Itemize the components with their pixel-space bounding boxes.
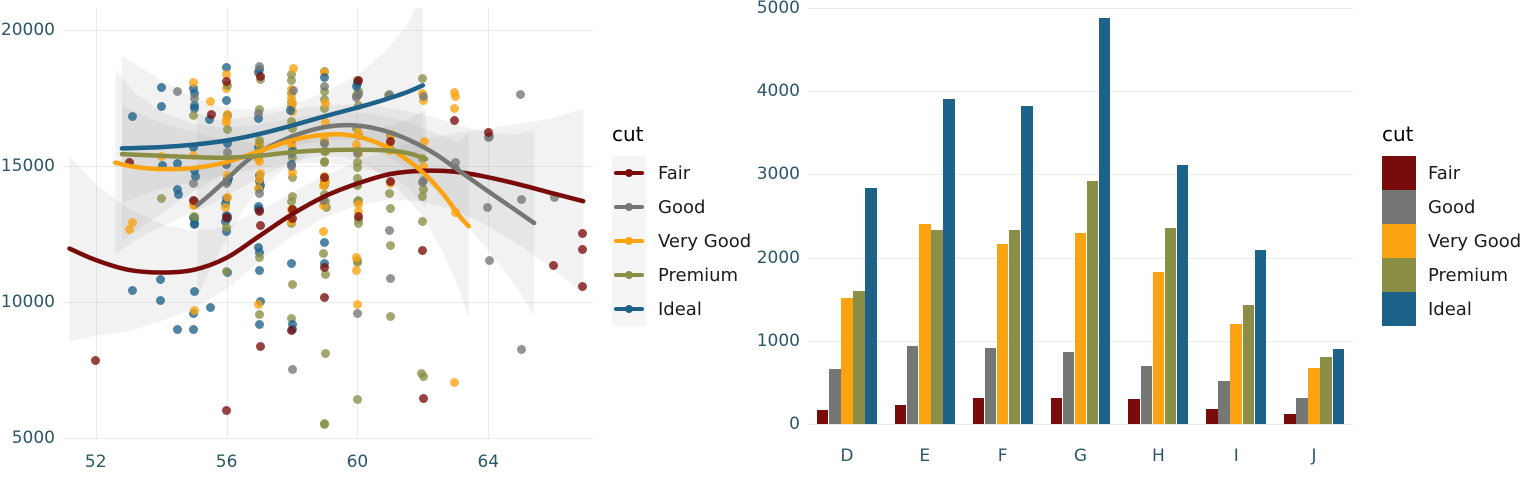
bar-G-good[interactable] [1063,352,1075,424]
bar-F-premium[interactable] [1009,230,1021,424]
smooth-line-fair [70,171,584,273]
bar-F-very-good[interactable] [997,244,1009,424]
x-axis-tick-label: 60 [327,452,387,472]
legend-key-swatch-icon [1382,156,1416,190]
y-axis-tick-label: 5000 [740,0,800,18]
figure-root: 5000100001500020000 52566064 cut FairGoo… [0,0,1536,480]
legend-right-title: cut [1382,122,1521,146]
legend-item-label: Good [1428,197,1475,218]
legend-key-line-icon [612,190,646,224]
legend-item-label: Fair [1428,163,1460,184]
legend-item-label: Ideal [658,299,702,320]
bar-E-ideal[interactable] [943,99,955,424]
legend-key-swatch-icon [1382,258,1416,292]
bar-H-premium[interactable] [1165,228,1177,424]
y-axis-tick-label: 2000 [740,248,800,268]
bar-D-good[interactable] [829,369,841,424]
legend-key-line-icon [612,292,646,326]
y-axis-tick-label: 1000 [740,331,800,351]
legend-right-items: FairGoodVery GoodPremiumIdeal [1382,156,1521,326]
smooth-curves [63,8,593,438]
x-axis-tick-label: I [1206,446,1266,466]
bar-I-very-good[interactable] [1230,324,1242,424]
legend-key-swatch-icon [1382,224,1416,258]
legend-item-premium[interactable]: Premium [1382,258,1521,292]
bar-I-premium[interactable] [1243,305,1255,424]
bar-D-premium[interactable] [853,291,865,424]
y-axis-tick-label: 5000 [0,428,55,448]
gridline-horizontal [808,424,1353,425]
legend-right: cut FairGoodVery GoodPremiumIdeal [1382,122,1521,326]
x-axis-tick-label: H [1128,446,1188,466]
bar-E-good[interactable] [907,346,919,424]
bar-F-fair[interactable] [973,398,985,424]
bar-G-premium[interactable] [1087,181,1099,424]
legend-item-label: Premium [1428,265,1508,286]
x-axis-tick-label: J [1284,446,1344,466]
x-axis-tick-label: 64 [458,452,518,472]
x-axis-tick-label: G [1051,446,1111,466]
bar-E-very-good[interactable] [919,224,931,424]
legend-item-fair[interactable]: Fair [612,156,751,190]
legend-item-ideal[interactable]: Ideal [1382,292,1521,326]
gridline-horizontal [808,91,1353,92]
bar-D-ideal[interactable] [865,188,877,424]
y-axis-tick-label: 10000 [0,292,55,312]
bar-J-fair[interactable] [1284,414,1296,424]
legend-item-good[interactable]: Good [1382,190,1521,224]
legend-item-premium[interactable]: Premium [612,258,751,292]
x-axis-tick-label: 56 [197,452,257,472]
legend-item-label: Very Good [1428,231,1521,252]
bar-I-fair[interactable] [1206,409,1218,424]
legend-item-label: Premium [658,265,738,286]
legend-item-label: Ideal [1428,299,1472,320]
legend-item-label: Fair [658,163,690,184]
legend-key-swatch-icon [1382,190,1416,224]
bar-F-ideal[interactable] [1021,106,1033,424]
gridline-horizontal [808,174,1353,175]
y-axis-tick-label: 3000 [740,164,800,184]
bar-E-fair[interactable] [895,405,907,424]
bar-H-ideal[interactable] [1177,165,1189,424]
bar-D-very-good[interactable] [841,298,853,424]
scatter-smooth-panel [63,8,593,438]
bar-G-ideal[interactable] [1099,18,1111,424]
legend-item-very-good[interactable]: Very Good [612,224,751,258]
bar-H-very-good[interactable] [1153,272,1165,424]
legend-key-line-icon [612,224,646,258]
legend-item-label: Very Good [658,231,751,252]
legend-item-good[interactable]: Good [612,190,751,224]
gridline-horizontal [808,8,1353,9]
bar-G-fair[interactable] [1051,398,1063,424]
legend-item-fair[interactable]: Fair [1382,156,1521,190]
legend-key-line-icon [612,156,646,190]
legend-left: cut FairGoodVery GoodPremiumIdeal [612,122,751,326]
smooth-line-ideal [122,85,423,148]
bar-G-very-good[interactable] [1075,233,1087,424]
bar-D-fair[interactable] [817,410,829,424]
bar-H-good[interactable] [1141,366,1153,424]
bar-chart-panel [808,8,1353,424]
legend-item-label: Good [658,197,705,218]
bar-E-premium[interactable] [931,230,943,424]
legend-item-very-good[interactable]: Very Good [1382,224,1521,258]
bar-J-good[interactable] [1296,398,1308,424]
y-axis-tick-label: 4000 [740,81,800,101]
bar-J-ideal[interactable] [1333,349,1345,424]
y-axis-tick-label: 20000 [0,20,55,40]
y-axis-tick-label: 0 [740,414,800,434]
bar-J-very-good[interactable] [1308,368,1320,424]
legend-key-swatch-icon [1382,292,1416,326]
legend-left-title: cut [612,122,751,146]
legend-left-items: FairGoodVery GoodPremiumIdeal [612,156,751,326]
x-axis-tick-label: 52 [66,452,126,472]
gridline-horizontal [63,438,593,439]
x-axis-tick-label: F [973,446,1033,466]
bar-I-ideal[interactable] [1255,250,1267,424]
legend-key-line-icon [612,258,646,292]
smooth-line-premium [122,150,426,159]
bar-I-good[interactable] [1218,381,1230,424]
x-axis-tick-label: D [817,446,877,466]
x-axis-tick-label: E [895,446,955,466]
legend-item-ideal[interactable]: Ideal [612,292,751,326]
bar-J-premium[interactable] [1320,357,1332,424]
bar-F-good[interactable] [985,348,997,424]
bar-H-fair[interactable] [1128,399,1140,424]
y-axis-tick-label: 15000 [0,156,55,176]
